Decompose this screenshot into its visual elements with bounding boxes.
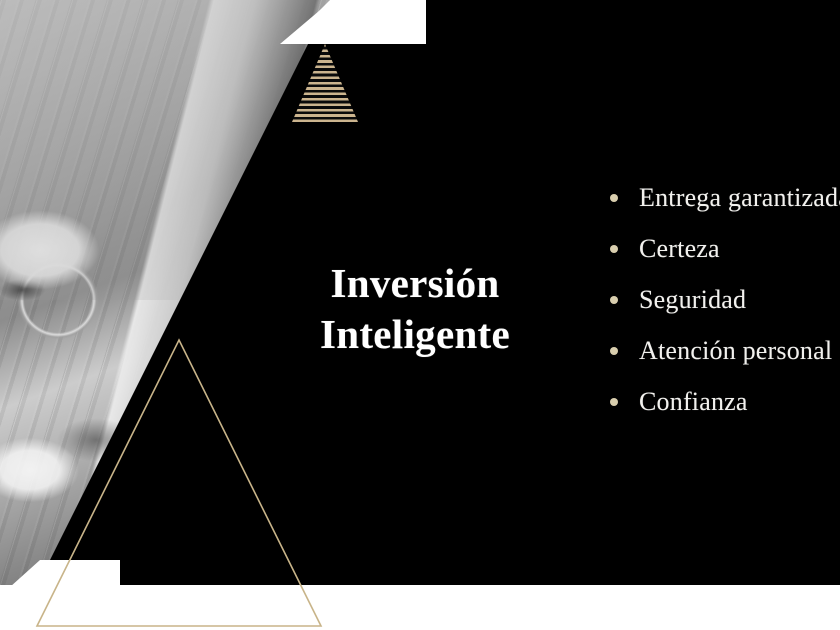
slide-title-line-1: Inversión	[250, 258, 580, 309]
list-item-label: Atención personal	[639, 336, 832, 366]
list-item-label: Certeza	[639, 234, 720, 264]
bullet-dot-icon	[610, 194, 618, 202]
feature-bullet-list: Entrega garantizada Certeza Seguridad At…	[610, 172, 840, 427]
outline-triangle-decoration	[30, 335, 330, 630]
outline-triangle-icon	[30, 335, 330, 630]
list-item-label: Seguridad	[639, 285, 746, 315]
bullet-dot-icon	[610, 296, 618, 304]
list-item: Certeza	[610, 223, 840, 274]
bullet-dot-icon	[610, 245, 618, 253]
list-item: Entrega garantizada	[610, 172, 840, 223]
bullet-dot-icon	[610, 398, 618, 406]
slide-title-line-2: Inteligente	[250, 309, 580, 360]
bullet-dot-icon	[610, 347, 618, 355]
list-item: Confianza	[610, 376, 840, 427]
list-item-label: Confianza	[639, 387, 748, 417]
slide-title: Inversión Inteligente	[250, 258, 580, 360]
list-item: Seguridad	[610, 274, 840, 325]
presentation-slide: Inversión Inteligente Entrega garantizad…	[0, 0, 840, 630]
list-item: Atención personal	[610, 325, 840, 376]
list-item-label: Entrega garantizada	[639, 183, 840, 213]
